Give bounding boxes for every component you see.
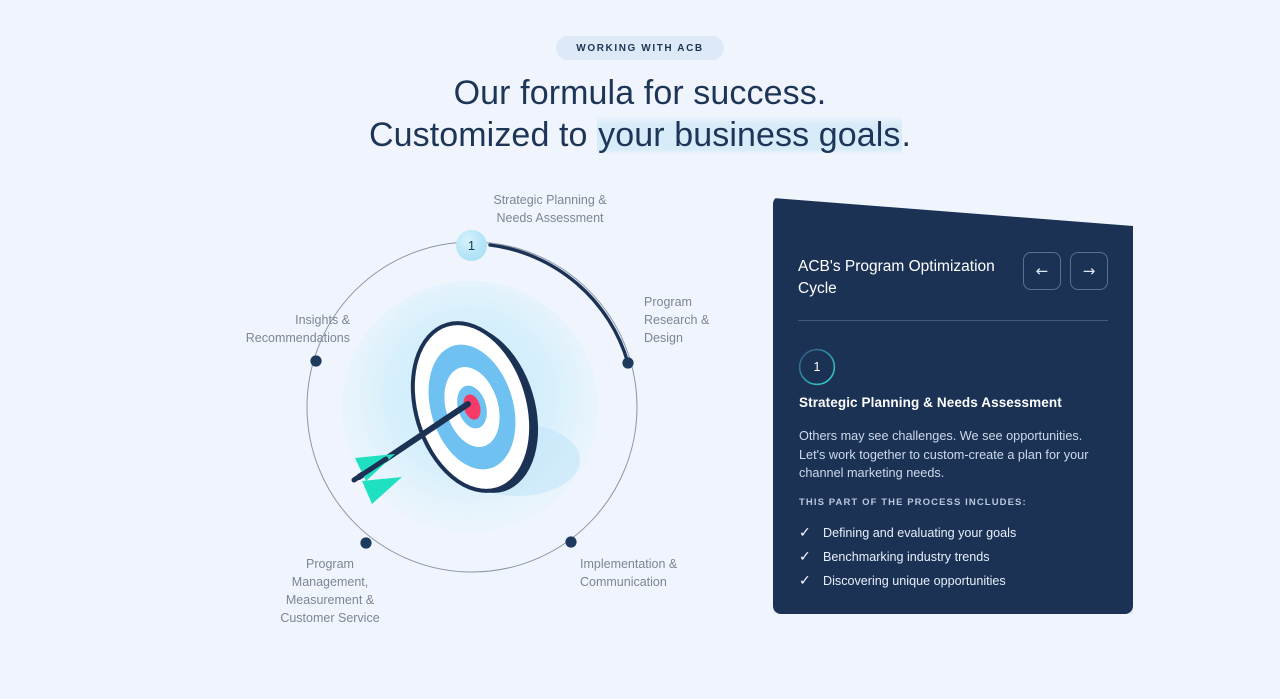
check-icon: ✓ — [799, 549, 823, 565]
prev-step-button[interactable]: ← — [1023, 252, 1061, 290]
step-number-text: 1 — [798, 348, 836, 386]
check-icon: ✓ — [799, 525, 823, 541]
list-item-label: Benchmarking industry trends — [823, 550, 990, 564]
includes-list: ✓ Defining and evaluating your goals ✓ B… — [799, 521, 1113, 593]
cycle-node-1-active[interactable]: 1 — [456, 230, 487, 261]
cycle-node-label-5: Insights & Recommendations — [170, 311, 350, 347]
step-detail-card: ACB's Program Optimization Cycle ← → 1 S… — [773, 196, 1133, 614]
page-title: Our formula for success. Customized to y… — [0, 72, 1280, 156]
cycle-node-dot-4[interactable] — [360, 537, 371, 548]
cycle-node-label-3: Implementation & Communication — [580, 555, 740, 591]
cycle-node-label-1: Strategic Planning & Needs Assessment — [460, 191, 640, 227]
step-title: Strategic Planning & Needs Assessment — [799, 395, 1109, 410]
headline-line-2: Customized to your business goals. — [0, 114, 1280, 156]
cycle-node-label-4: Program Management, Measurement & Custom… — [240, 555, 420, 627]
includes-label: This part of the process includes: — [799, 497, 1027, 508]
eyebrow-container: Working with ACB — [0, 36, 1280, 60]
headline-line-2-suffix: . — [902, 116, 912, 154]
list-item-label: Discovering unique opportunities — [823, 574, 1006, 588]
list-item: ✓ Defining and evaluating your goals — [799, 521, 1113, 545]
list-item: ✓ Discovering unique opportunities — [799, 569, 1113, 593]
next-step-button[interactable]: → — [1070, 252, 1108, 290]
headline-highlight: your business goals — [597, 116, 901, 154]
eyebrow-badge: Working with ACB — [556, 36, 723, 60]
list-item: ✓ Benchmarking industry trends — [799, 545, 1113, 569]
card-nav-controls: ← → — [1023, 252, 1108, 290]
list-item-label: Defining and evaluating your goals — [823, 526, 1016, 540]
cycle-node-label-2: Program Research & Design — [644, 293, 764, 347]
step-number-badge: 1 — [798, 348, 836, 386]
card-inner: ACB's Program Optimization Cycle ← → 1 S… — [773, 196, 1133, 614]
card-divider — [798, 320, 1108, 321]
card-title: ACB's Program Optimization Cycle — [798, 256, 1008, 300]
cycle-node-dot-2[interactable] — [622, 357, 633, 368]
headline-line-1: Our formula for success. — [454, 74, 827, 112]
process-cycle-diagram: 1 Strategic Planning & Needs Assessment … — [150, 170, 800, 650]
card-header: ACB's Program Optimization Cycle ← → — [798, 256, 1108, 300]
headline-line-2-prefix: Customized to — [369, 116, 597, 154]
check-icon: ✓ — [799, 573, 823, 589]
cycle-node-dot-5[interactable] — [310, 355, 321, 366]
cycle-node-dot-3[interactable] — [565, 536, 576, 547]
step-description: Others may see challenges. We see opport… — [799, 427, 1105, 483]
